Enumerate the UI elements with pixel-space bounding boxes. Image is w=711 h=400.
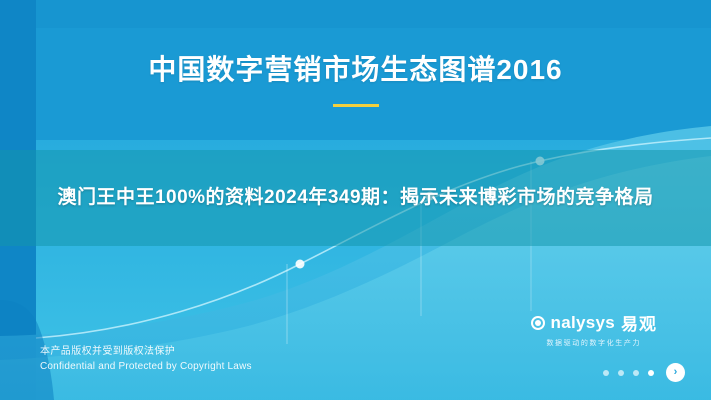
brand-tagline: 数据驱动的数字化生产力 — [531, 338, 657, 348]
pager-dot[interactable] — [633, 370, 639, 376]
pager-dot[interactable] — [603, 370, 609, 376]
copyright-notice: 本产品版权并受到版权法保护 Confidential and Protected… — [40, 344, 252, 374]
headline-text: 澳门王中王100%的资料2024年349期：揭示未来博彩市场的竞争格局 — [36, 183, 676, 212]
page-title: 中国数字营销市场生态图谱2016 — [0, 52, 711, 87]
pager-dot-active[interactable] — [648, 370, 654, 376]
brand-logo: nalysys 易观 数据驱动的数字化生产力 — [531, 310, 657, 348]
slide-canvas: 中国数字营销市场生态图谱2016 澳门王中王100%的资料2024年349期：揭… — [0, 0, 711, 400]
brand-name-en: nalysys — [551, 313, 615, 333]
pager-dot[interactable] — [618, 370, 624, 376]
copyright-notice-en: Confidential and Protected by Copyright … — [40, 359, 252, 374]
headline-overlay-band: 澳门王中王100%的资料2024年349期：揭示未来博彩市场的竞争格局 — [0, 150, 711, 246]
copyright-notice-cn: 本产品版权并受到版权法保护 — [40, 344, 252, 359]
circle-dot-icon — [531, 316, 545, 330]
chevron-right-icon[interactable]: › — [666, 363, 685, 382]
slide-pager[interactable]: › — [603, 363, 685, 382]
title-block: 中国数字营销市场生态图谱2016 — [0, 52, 711, 107]
brand-logo-row: nalysys 易观 — [531, 310, 657, 335]
brand-name-cn: 易观 — [621, 310, 657, 335]
title-underline-accent — [333, 104, 379, 107]
